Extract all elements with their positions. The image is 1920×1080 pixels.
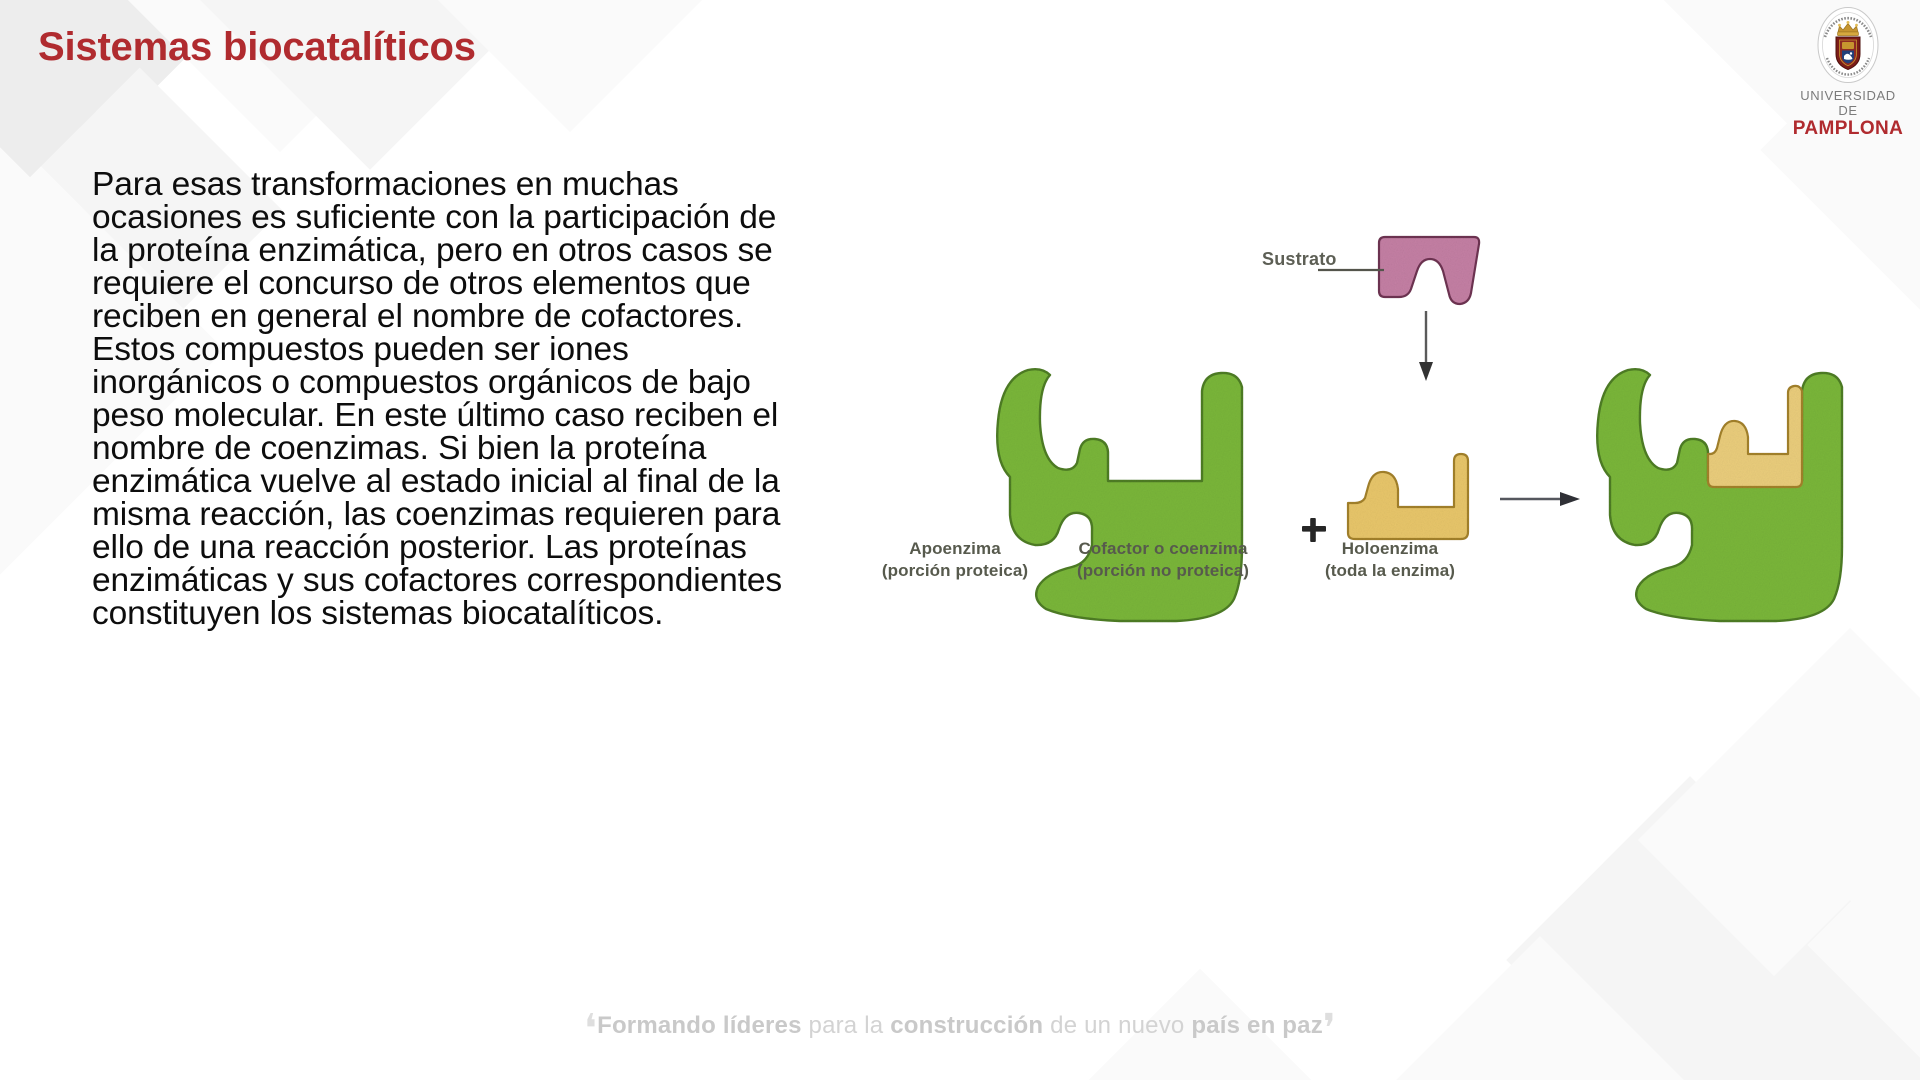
cofactor-label-name: Cofactor o coenzima	[1043, 538, 1283, 560]
apoenzyme-label-sub: (porción proteica)	[855, 560, 1055, 582]
footer-seg-5: país en paz	[1191, 1012, 1323, 1039]
cofactor-shape	[1348, 454, 1468, 539]
holoenzyme-shape	[1597, 369, 1842, 621]
watermark-diamond	[1680, 900, 1920, 1080]
cofactor-label: Cofactor o coenzima (porción no proteica…	[1043, 538, 1283, 582]
university-crest-icon	[1816, 6, 1880, 84]
substrate-arrow-icon	[1419, 311, 1433, 381]
footer-seg-3: construcción	[890, 1012, 1043, 1039]
substrate-shape	[1379, 237, 1479, 304]
footer-seg-1: Formando líderes	[597, 1012, 802, 1039]
enzyme-diagram	[980, 215, 1910, 665]
university-logo: UNIVERSIDAD DE PAMPLONA	[1792, 6, 1904, 139]
reaction-arrow-icon	[1500, 492, 1580, 506]
holoenzyme-label: Holoenzima (toda la enzima)	[1290, 538, 1490, 582]
logo-line-2: PAMPLONA	[1792, 118, 1904, 139]
apoenzyme-label-name: Apoenzima	[855, 538, 1055, 560]
apoenzyme-shape	[997, 369, 1242, 621]
close-quote-icon: ❜	[1323, 1007, 1336, 1051]
footer-slogan: ❛Formando líderes para la construcción d…	[0, 1012, 1920, 1040]
cofactor-label-sub: (porción no proteica)	[1043, 560, 1283, 582]
watermark-diamond	[68, 0, 492, 152]
apoenzyme-label: Apoenzima (porción proteica)	[855, 538, 1055, 582]
substrate-label: Sustrato	[1262, 249, 1337, 270]
watermark-diamond	[1638, 628, 1920, 1052]
page-title: Sistemas biocatalíticos	[38, 25, 476, 70]
footer-seg-4: de un nuevo	[1043, 1012, 1191, 1039]
watermark-diamond	[1356, 936, 1724, 1080]
body-paragraph: Para esas transformaciones en muchas oca…	[92, 168, 792, 630]
footer-seg-2: para la	[802, 1012, 891, 1039]
open-quote-icon: ❛	[584, 1007, 597, 1051]
holoenzyme-label-sub: (toda la enzima)	[1290, 560, 1490, 582]
holoenzyme-label-name: Holoenzima	[1290, 538, 1490, 560]
slide-canvas: Sistemas biocatalíticos	[0, 0, 1920, 1080]
logo-line-1: UNIVERSIDAD DE	[1792, 88, 1904, 118]
